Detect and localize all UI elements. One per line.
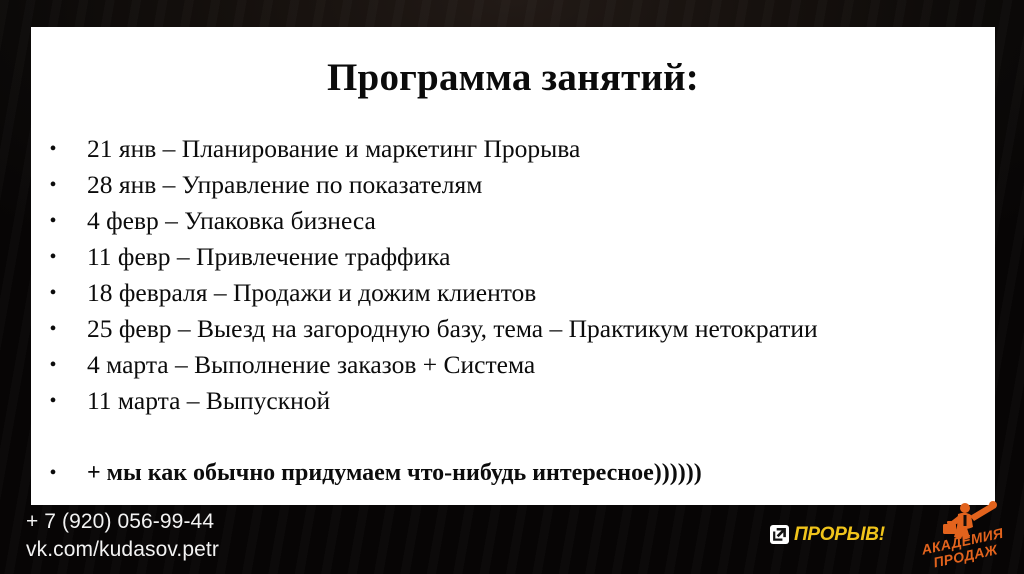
list-item: • 25 февр – Выезд на загородную базу, те… — [31, 311, 995, 347]
footer-contacts: + 7 (920) 056-99-44 vk.com/kudasov.petr — [26, 508, 219, 564]
bullet-icon: • — [48, 455, 58, 491]
academy-logo[interactable]: АКАДЕМИЯ ПРОДАЖ — [914, 500, 1014, 572]
phone-number: + 7 (920) 056-99-44 — [26, 508, 219, 536]
list-item-label: 21 янв – Планирование и маркетинг Прорыв… — [87, 134, 580, 163]
list-item-label: 11 февр – Привлечение траффика — [87, 242, 451, 271]
list-item: • 11 марта – Выпускной — [31, 383, 995, 419]
bullet-icon: • — [48, 383, 58, 419]
list-item: • 4 февр – Упаковка бизнеса — [31, 203, 995, 239]
proryv-logo[interactable]: ПРОРЫВ! — [770, 525, 885, 544]
bullet-icon: • — [48, 131, 58, 167]
vk-link[interactable]: vk.com/kudasov.petr — [26, 536, 219, 564]
agenda-list: • 21 янв – Планирование и маркетинг Прор… — [31, 131, 995, 491]
academy-label: АКАДЕМИЯ ПРОДАЖ — [912, 524, 1016, 574]
content-card: Программа занятий: • 21 янв – Планирован… — [31, 27, 995, 505]
bullet-icon: • — [48, 167, 58, 203]
list-item-emphasis: • + мы как обычно придумаем что-нибудь и… — [31, 455, 995, 491]
list-item: • 11 февр – Привлечение траффика — [31, 239, 995, 275]
list-item: • 28 янв – Управление по показателям — [31, 167, 995, 203]
bullet-icon: • — [48, 275, 58, 311]
list-item-label: 4 марта – Выполнение заказов + Система — [87, 350, 535, 379]
external-link-icon — [770, 525, 789, 544]
list-item: • 21 янв – Планирование и маркетинг Прор… — [31, 131, 995, 167]
list-item-label: 11 марта – Выпускной — [87, 386, 330, 415]
list-item-label: 25 февр – Выезд на загородную базу, тема… — [87, 314, 818, 343]
list-item-label: 28 янв – Управление по показателям — [87, 170, 482, 199]
bullet-icon: • — [48, 203, 58, 239]
bullet-icon: • — [48, 311, 58, 347]
proryv-label: ПРОРЫВ! — [794, 525, 885, 544]
list-item-label: 4 февр – Упаковка бизнеса — [87, 206, 376, 235]
footer-logos: ПРОРЫВ! — [766, 498, 1016, 574]
list-item: • 18 февраля – Продажи и дожим клиентов — [31, 275, 995, 311]
list-item-label: 18 февраля – Продажи и дожим клиентов — [87, 278, 536, 307]
page-title: Программа занятий: — [31, 55, 995, 101]
bullet-icon: • — [48, 347, 58, 383]
slide-root: Программа занятий: • 21 янв – Планирован… — [0, 0, 1024, 574]
list-item: • 4 марта – Выполнение заказов + Система — [31, 347, 995, 383]
bullet-icon: • — [48, 239, 58, 275]
list-item-label: + мы как обычно придумаем что-нибудь инт… — [87, 460, 702, 486]
